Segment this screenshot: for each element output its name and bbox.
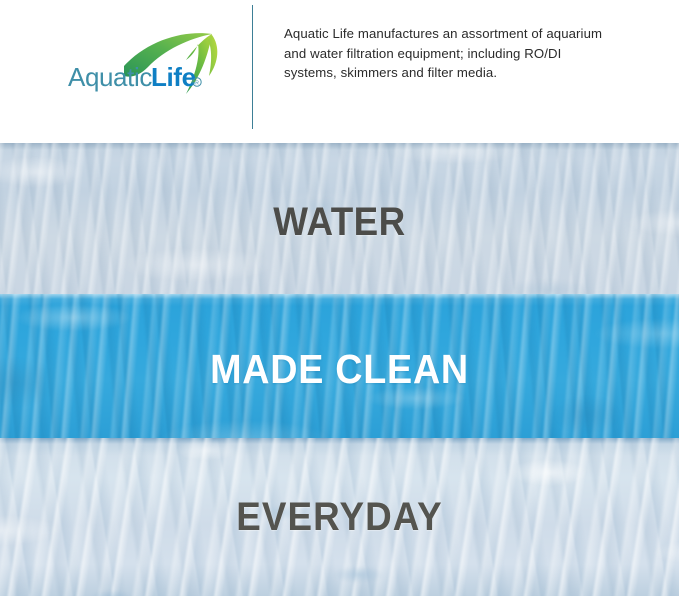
brand-description: Aquatic Life manufactures an assortment … [284,24,614,83]
brand-header: Aquatic Life R Aquatic Life manufactures… [0,0,679,143]
svg-text:R: R [195,81,199,87]
logo-text-aquatic: Aquatic [68,62,152,92]
headline-water: WATER [27,200,652,245]
product-banner-page: Aquatic Life R Aquatic Life manufactures… [0,0,679,596]
aquaticlife-logo: Aquatic Life R [62,22,242,108]
aquaticlife-logo-icon: Aquatic Life R [62,22,242,108]
header-divider [252,5,253,129]
hero-water-image: WATER MADE CLEAN EVERYDAY [0,143,679,596]
headline-made-clean: MADE CLEAN [27,346,652,393]
logo-text-life: Life [151,62,196,92]
headline-everyday: EVERYDAY [27,495,652,540]
